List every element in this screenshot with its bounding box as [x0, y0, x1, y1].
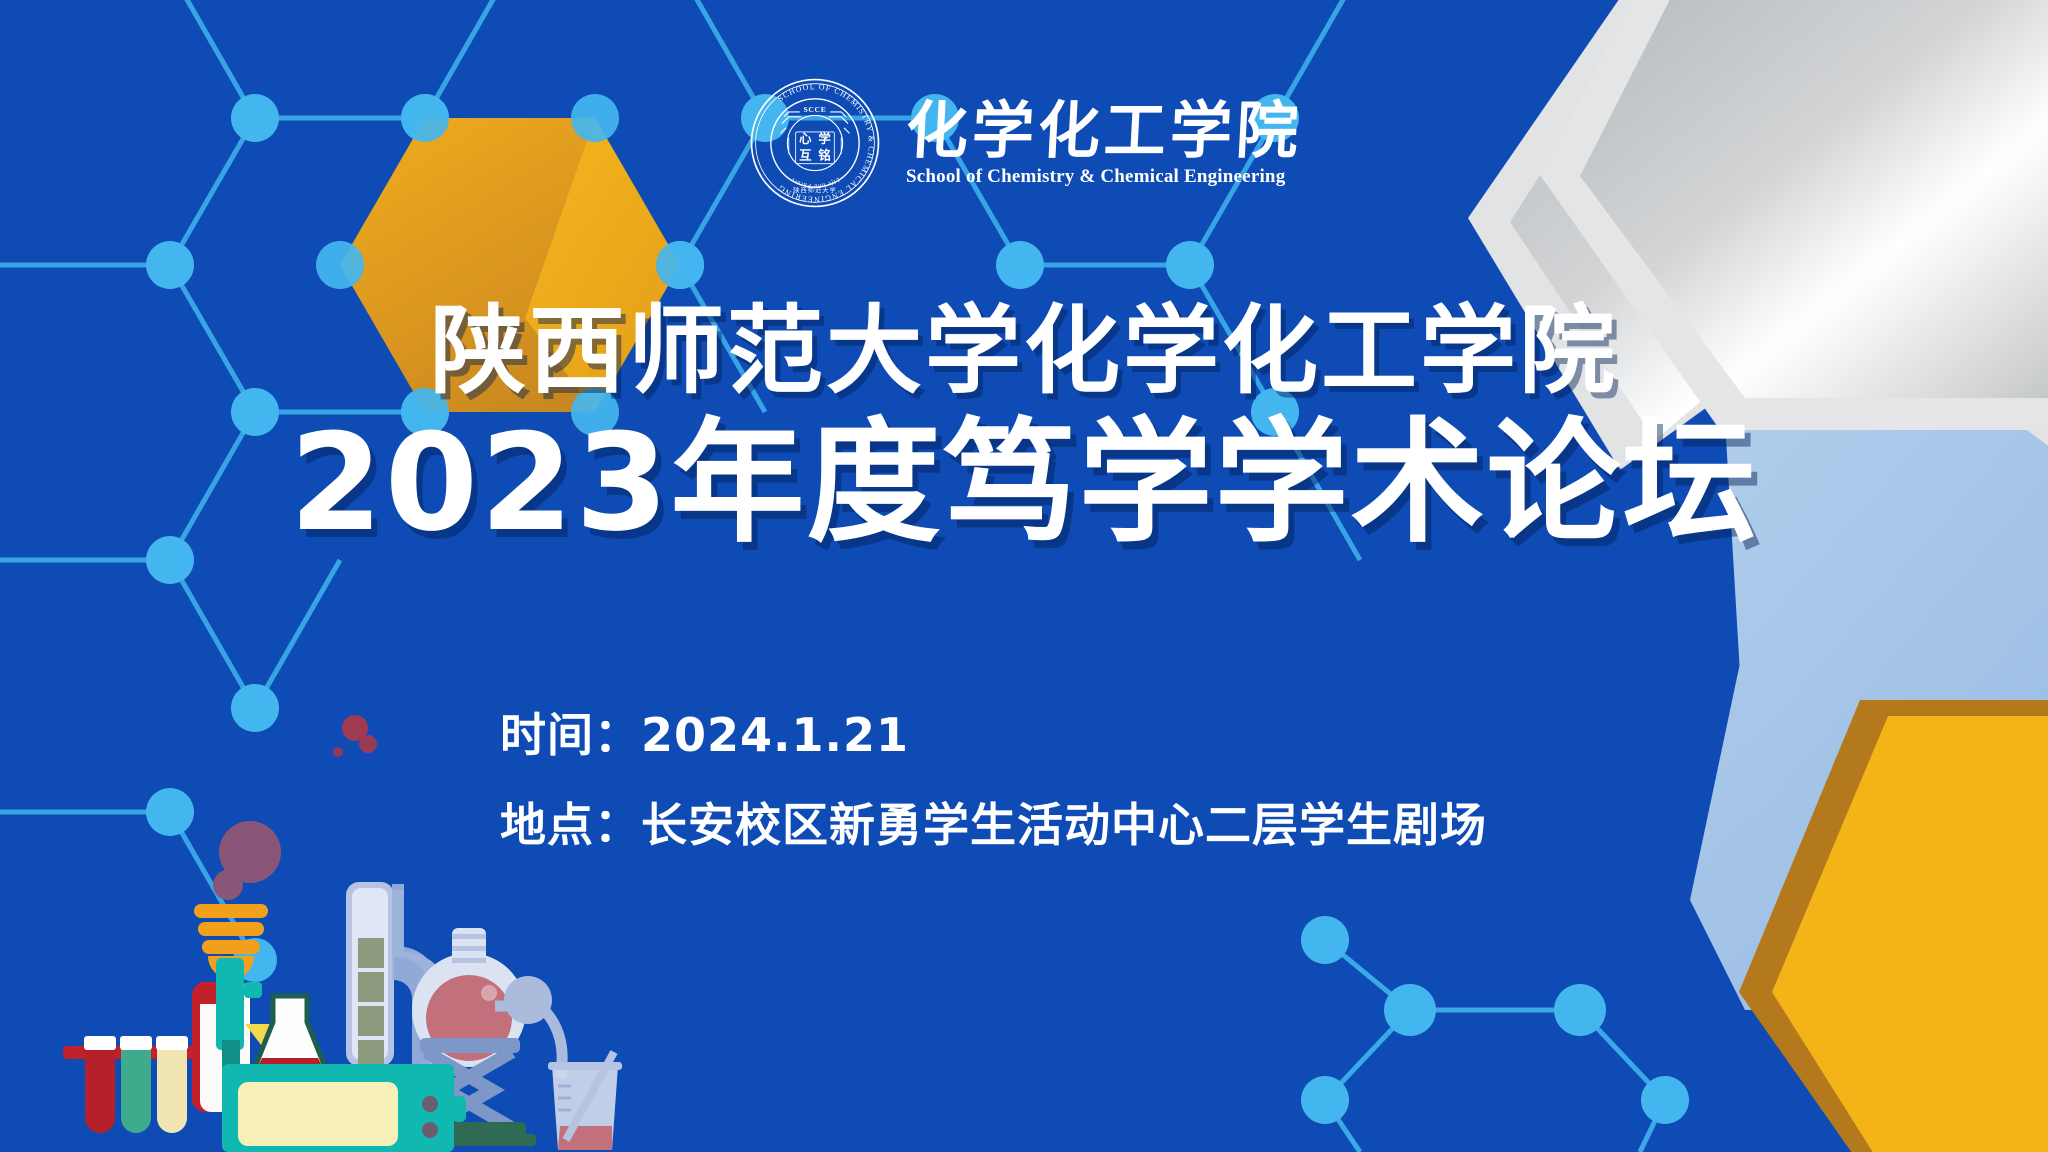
svg-text:SCCE: SCCE	[804, 105, 827, 114]
funnel-icon	[245, 1024, 292, 1064]
notebook-icon	[192, 982, 250, 1112]
page-title-line-2: 2023年度笃学学术论坛	[0, 412, 2048, 554]
lab-jack-plates	[404, 1038, 536, 1146]
wordmark-en: School of Chemistry & Chemical Engineeri…	[906, 167, 1285, 186]
maroon-bubbles	[333, 715, 377, 757]
round-bottom-flask-icon	[412, 928, 526, 1067]
title-block: 陕西师范大学化学化工学院 2023年度笃学学术论坛	[0, 300, 2048, 554]
red-test-tube-icon	[84, 1036, 116, 1133]
test-tube-rack-icon	[63, 1046, 243, 1059]
molecule-lattice-bottom-right-nodes	[1301, 916, 1689, 1124]
school-seal-icon: SCHOOL OF CHEMISTRY & CHEMICAL ENGINEERI…	[746, 74, 884, 212]
lab-jack-icon	[426, 1052, 512, 1128]
hot-plate-icon	[222, 1064, 466, 1152]
purple-bubbles-icon	[213, 821, 281, 900]
yellow-test-tube-icon	[156, 1036, 188, 1133]
poster-canvas: SCHOOL OF CHEMISTRY & CHEMICAL ENGINEERI…	[0, 0, 2048, 1152]
svg-text:陕西师范大学: 陕西师范大学	[793, 187, 836, 195]
lab-equipment-illustration	[63, 821, 622, 1152]
wordmark-cn: 化学化工学院	[904, 101, 1303, 163]
gold-chevron	[1739, 700, 2048, 1152]
wordmark: 化学化工学院 School of Chemistry & Chemical En…	[906, 101, 1302, 186]
logo-lockup: SCHOOL OF CHEMISTRY & CHEMICAL ENGINEERI…	[746, 74, 1302, 212]
condenser-tube-icon	[398, 890, 434, 1090]
event-details: 时间：2024.1.21 地点：长安校区新勇学生活动中心二层学生剧场	[500, 712, 1487, 848]
svg-text:心: 心	[799, 131, 812, 146]
graduated-cylinder-icon	[346, 882, 394, 1066]
side-bulb-icon	[495, 976, 562, 1078]
erlenmeyer-flask-icon	[245, 996, 335, 1092]
event-place: 地点：长安校区新勇学生活动中心二层学生剧场	[500, 802, 1487, 848]
molecule-lattice-bottom-right	[1325, 940, 1665, 1152]
orange-coil-lamp-icon	[194, 904, 268, 979]
svg-text:互: 互	[799, 148, 812, 163]
beaker-icon	[548, 1052, 622, 1150]
svg-text:铭: 铭	[818, 148, 830, 163]
condenser-tube-fill	[392, 884, 450, 1090]
teal-syringe-icon	[216, 958, 262, 1102]
page-title-line-1: 陕西师范大学化学化工学院	[0, 300, 2048, 404]
event-time: 时间：2024.1.21	[500, 712, 1487, 758]
svg-text:学: 学	[818, 131, 830, 146]
green-test-tube-icon	[120, 1036, 152, 1133]
